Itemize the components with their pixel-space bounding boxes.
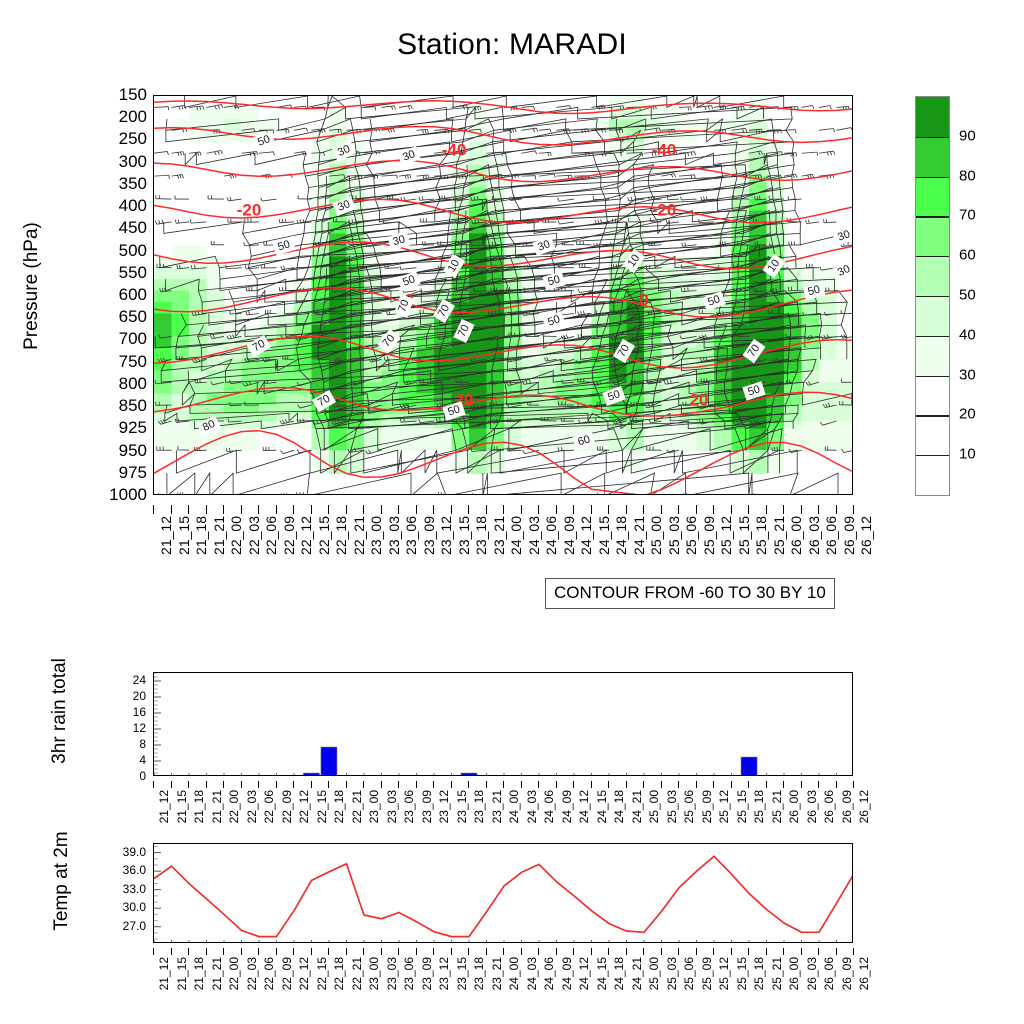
time-tick: [311, 948, 312, 955]
time-tick: [503, 948, 504, 955]
time-tick-label: 24_21: [631, 516, 647, 555]
time-tick-label: 23_00: [368, 516, 384, 555]
time-tick-label: 24_06: [542, 957, 556, 990]
time-tick-label: 22_00: [228, 516, 244, 555]
time-tick-label: 25_09: [700, 957, 714, 990]
time-tick: [293, 781, 294, 788]
time-tick-label: 24_21: [630, 957, 644, 990]
time-tick-label: 25_18: [752, 957, 766, 990]
time-tick-label: 26_12: [858, 516, 874, 555]
time-tick-label: 26_09: [841, 516, 857, 555]
time-tick-label: 25_03: [665, 790, 679, 823]
time-tick-label: 25_21: [770, 790, 784, 823]
time-tick-label: 26_06: [822, 957, 836, 990]
time-tick: [468, 781, 469, 788]
time-tick: [258, 948, 259, 955]
time-tick: [416, 781, 417, 788]
time-tick-label: 24_00: [508, 516, 524, 555]
time-tick: [766, 505, 767, 514]
time-tick-label: 22_18: [332, 790, 346, 823]
time-tick: [451, 781, 452, 788]
time-tick: [346, 781, 347, 788]
pressure-tick-label: 200: [119, 107, 147, 127]
time-tick-label: 22_18: [333, 516, 349, 555]
time-tick: [171, 948, 172, 955]
time-tick: [591, 948, 592, 955]
time-tick-label: 23_12: [438, 516, 454, 555]
cross-section-plot-area[interactable]: -40-40-20-200020205030303050303010101050…: [153, 95, 853, 495]
time-tick: [853, 948, 854, 955]
time-tick: [153, 505, 154, 514]
time-tick: [451, 505, 452, 514]
time-tick-label: 24_09: [560, 957, 574, 990]
time-tick-label: 24_15: [595, 957, 609, 990]
time-tick: [241, 948, 242, 955]
time-tick-label: 25_18: [753, 516, 769, 555]
time-tick: [521, 781, 522, 788]
time-tick: [433, 948, 434, 955]
time-tick-label: 22_12: [298, 516, 314, 555]
time-tick-label: 25_03: [665, 957, 679, 990]
time-tick-label: 22_09: [281, 516, 297, 555]
time-tick-label: 21_21: [211, 516, 227, 555]
time-tick: [328, 781, 329, 788]
time-tick: [223, 781, 224, 788]
time-tick: [486, 505, 487, 514]
time-tick: [731, 505, 732, 514]
time-tick: [486, 948, 487, 955]
time-tick: [608, 948, 609, 955]
colorbar-tick-labels: 908070605040302010: [915, 96, 1015, 494]
pressure-tick-label: 950: [119, 441, 147, 461]
time-tick-label: 23_21: [490, 790, 504, 823]
time-tick: [608, 781, 609, 788]
time-tick-label: 22_12: [297, 957, 311, 990]
time-tick-label: 24_18: [612, 957, 626, 990]
time-tick-label: 26_06: [823, 516, 839, 555]
time-tick-label: 25_21: [770, 957, 784, 990]
temp-plot-area[interactable]: [153, 843, 853, 943]
time-tick-label: 25_00: [648, 516, 664, 555]
svg-text:-20: -20: [237, 200, 262, 219]
pressure-tick-label: 1000: [109, 485, 147, 505]
time-tick: [223, 505, 224, 514]
time-tick: [696, 948, 697, 955]
pressure-axis-title: Pressure (hPa): [21, 136, 43, 436]
pressure-tick-label: 600: [119, 285, 147, 305]
rain-tick-label: 4: [139, 753, 146, 767]
time-tick-label: 23_21: [490, 957, 504, 990]
time-tick: [311, 781, 312, 788]
time-tick: [556, 781, 557, 788]
time-tick: [433, 505, 434, 514]
time-tick-label: 24_06: [542, 790, 556, 823]
time-tick-label: 25_06: [682, 957, 696, 990]
pressure-tick-label: 750: [119, 352, 147, 372]
time-tick: [661, 781, 662, 788]
time-tick: [521, 505, 522, 514]
time-tick: [748, 781, 749, 788]
time-tick-label: 24_06: [543, 516, 559, 555]
time-tick: [223, 948, 224, 955]
time-tick: [853, 505, 854, 514]
time-tick-label: 22_03: [246, 516, 262, 555]
time-tick: [381, 505, 382, 514]
time-tick: [188, 948, 189, 955]
time-tick-label: 21_15: [176, 516, 192, 555]
pressure-tick-label: 700: [119, 329, 147, 349]
colorbar-tick-label: 80: [959, 167, 976, 184]
time-tick-label: 23_18: [473, 516, 489, 555]
time-tick: [538, 781, 539, 788]
rain-tick-label: 12: [133, 721, 146, 735]
time-tick: [836, 505, 837, 514]
time-tick-label: 21_21: [210, 957, 224, 990]
time-tick-label: 23_03: [386, 516, 402, 555]
time-tick: [731, 781, 732, 788]
time-tick-label: 24_21: [630, 790, 644, 823]
time-tick: [503, 505, 504, 514]
time-tick: [713, 781, 714, 788]
cross-section-canvas: -40-40-20-200020205030303050303010101050…: [154, 96, 853, 495]
time-tick-label: 25_18: [752, 790, 766, 823]
time-tick: [258, 781, 259, 788]
time-tick-label: 23_06: [402, 957, 416, 990]
time-tick-label: 22_12: [297, 790, 311, 823]
time-tick-label: 24_18: [613, 516, 629, 555]
time-tick: [468, 505, 469, 514]
time-tick-label: 23_09: [420, 957, 434, 990]
time-tick-label: 23_12: [437, 957, 451, 990]
time-tick: [346, 505, 347, 514]
time-tick: [276, 505, 277, 514]
time-tick: [433, 781, 434, 788]
time-tick: [591, 781, 592, 788]
time-tick: [188, 781, 189, 788]
temp-tick-label: 27.0: [123, 919, 146, 933]
colorbar-tick-label: 60: [959, 247, 976, 264]
pressure-tick-labels: 1502002503003504004505005506006507007508…: [55, 95, 147, 495]
time-tick: [293, 505, 294, 514]
time-tick: [206, 948, 207, 955]
time-tick-label: 24_15: [595, 790, 609, 823]
time-tick-label: 26_03: [805, 957, 819, 990]
time-tick: [801, 505, 802, 514]
colorbar-tick-label: 90: [959, 127, 976, 144]
time-tick-label: 22_03: [245, 790, 259, 823]
time-tick-label: 24_00: [507, 957, 521, 990]
temp-tick-label: 39.0: [123, 845, 146, 859]
time-tick-label: 26_00: [787, 957, 801, 990]
time-tick-label: 23_15: [455, 790, 469, 823]
pressure-tick-label: 975: [119, 463, 147, 483]
time-tick-label: 24_03: [526, 516, 542, 555]
time-tick-label: 22_15: [315, 957, 329, 990]
time-tick: [783, 505, 784, 514]
time-tick-label: 26_12: [857, 790, 871, 823]
time-tick-label: 22_03: [245, 957, 259, 990]
time-tick-label: 23_03: [385, 957, 399, 990]
contour-note: CONTOUR FROM -60 TO 30 BY 10: [545, 578, 835, 609]
time-tick-label: 22_06: [262, 957, 276, 990]
colorbar-tick-label: 30: [959, 366, 976, 383]
time-tick: [591, 505, 592, 514]
time-tick: [643, 948, 644, 955]
time-tick: [538, 505, 539, 514]
time-tick: [311, 505, 312, 514]
time-tick: [188, 505, 189, 514]
temp-tick-labels: 27.030.033.036.039.0: [80, 843, 146, 943]
rain-tick-label: 8: [139, 737, 146, 751]
time-tick: [766, 948, 767, 955]
colorbar-tick-label: 50: [959, 287, 976, 304]
time-tick-label: 25_09: [701, 516, 717, 555]
time-tick: [853, 781, 854, 788]
time-tick: [783, 781, 784, 788]
time-tick: [696, 781, 697, 788]
time-tick-label: 23_18: [472, 790, 486, 823]
time-tick: [206, 505, 207, 514]
time-tick: [171, 505, 172, 514]
time-tick-label: 25_12: [717, 790, 731, 823]
svg-text:20: 20: [690, 390, 709, 409]
page-title: Station: MARADI: [0, 28, 1024, 62]
time-tick-label: 24_18: [612, 790, 626, 823]
time-tick-label: 26_03: [806, 516, 822, 555]
rain-panel: [153, 672, 853, 776]
rain-tick-label: 16: [133, 705, 146, 719]
pressure-tick-label: 800: [119, 374, 147, 394]
time-tick: [556, 505, 557, 514]
time-tick: [416, 948, 417, 955]
time-tick-label: 26_00: [787, 790, 801, 823]
colorbar-tick-label: 70: [959, 207, 976, 224]
time-tick-label: 24_03: [525, 957, 539, 990]
time-tick: [276, 781, 277, 788]
time-tick-label: 22_09: [280, 957, 294, 990]
time-tick: [713, 505, 714, 514]
time-tick: [556, 948, 557, 955]
rain-tick-label: 0: [139, 769, 146, 783]
time-tick: [486, 781, 487, 788]
time-tick-label: 23_15: [456, 516, 472, 555]
pressure-tick-label: 450: [119, 218, 147, 238]
time-tick-label: 25_06: [683, 516, 699, 555]
time-tick: [678, 781, 679, 788]
time-tick: [661, 948, 662, 955]
rain-plot-area[interactable]: [153, 672, 853, 776]
time-tick-label: 21_18: [192, 957, 206, 990]
time-tick: [626, 781, 627, 788]
pressure-tick-label: 400: [119, 196, 147, 216]
pressure-tick-label: 250: [119, 129, 147, 149]
time-tick-label: 25_09: [700, 790, 714, 823]
time-tick-label: 26_12: [857, 957, 871, 990]
time-tick-label: 21_15: [175, 790, 189, 823]
time-tick: [643, 781, 644, 788]
time-tick-label: 23_21: [491, 516, 507, 555]
time-tick: [836, 948, 837, 955]
time-tick-label: 22_09: [280, 790, 294, 823]
time-tick: [573, 505, 574, 514]
pressure-tick-label: 650: [119, 307, 147, 327]
time-tick-label: 26_09: [840, 790, 854, 823]
time-tick: [538, 948, 539, 955]
temp-tick-label: 33.0: [123, 882, 146, 896]
time-tick: [363, 505, 364, 514]
temp-tick-label: 30.0: [123, 900, 146, 914]
time-tick: [206, 781, 207, 788]
time-tick: [626, 505, 627, 514]
time-tick: [153, 781, 154, 788]
time-tick: [801, 781, 802, 788]
time-tick: [153, 948, 154, 955]
time-tick-label: 25_00: [647, 790, 661, 823]
time-tick: [363, 781, 364, 788]
time-tick-label: 25_15: [735, 957, 749, 990]
temp-time-labels: 21_1221_1521_1821_2122_0022_0322_0622_09…: [153, 948, 853, 1010]
time-tick: [241, 781, 242, 788]
time-tick-label: 22_06: [263, 516, 279, 555]
temp-axis-title: Temp at 2m: [51, 761, 73, 1001]
time-tick: [573, 781, 574, 788]
time-tick-label: 25_12: [717, 957, 731, 990]
pressure-tick-label: 350: [119, 174, 147, 194]
time-tick: [801, 948, 802, 955]
time-tick-label: 26_09: [840, 957, 854, 990]
rain-tick-label: 20: [133, 689, 146, 703]
time-tick-label: 22_15: [316, 516, 332, 555]
time-tick: [748, 505, 749, 514]
time-tick-label: 21_12: [157, 957, 171, 990]
time-tick-label: 26_03: [805, 790, 819, 823]
time-tick-label: 23_09: [420, 790, 434, 823]
rain-tick-labels: 04812162024: [88, 672, 146, 776]
time-tick-label: 22_18: [332, 957, 346, 990]
svg-text:-40: -40: [442, 140, 467, 159]
time-tick: [503, 781, 504, 788]
time-tick-label: 23_00: [367, 790, 381, 823]
cross-section-panel: -40-40-20-200020205030303050303010101050…: [153, 95, 853, 495]
time-tick-label: 25_03: [666, 516, 682, 555]
time-tick-label: 26_06: [822, 790, 836, 823]
time-tick-label: 23_18: [472, 957, 486, 990]
time-tick-label: 22_06: [262, 790, 276, 823]
time-tick-label: 24_12: [577, 790, 591, 823]
time-tick: [416, 505, 417, 514]
pressure-tick-label: 850: [119, 396, 147, 416]
time-tick: [608, 505, 609, 514]
time-tick-label: 22_00: [227, 790, 241, 823]
time-tick: [818, 948, 819, 955]
time-tick-label: 23_03: [385, 790, 399, 823]
time-tick-label: 21_18: [193, 516, 209, 555]
time-tick: [363, 948, 364, 955]
time-tick-label: 24_03: [525, 790, 539, 823]
time-tick-label: 23_12: [437, 790, 451, 823]
time-tick-label: 21_15: [175, 957, 189, 990]
time-tick-label: 24_09: [561, 516, 577, 555]
time-tick: [678, 505, 679, 514]
time-tick-label: 21_18: [192, 790, 206, 823]
time-tick-label: 24_15: [596, 516, 612, 555]
pressure-tick-label: 500: [119, 241, 147, 261]
time-tick-label: 24_12: [578, 516, 594, 555]
time-tick-label: 22_21: [350, 957, 364, 990]
time-tick-label: 23_15: [455, 957, 469, 990]
time-tick-label: 25_00: [647, 957, 661, 990]
time-tick-label: 25_06: [682, 790, 696, 823]
cross-section-time-labels: 21_1221_1521_1821_2122_0022_0322_0622_09…: [153, 505, 853, 575]
time-tick: [748, 948, 749, 955]
time-tick: [381, 948, 382, 955]
colorbar-tick-label: 10: [959, 446, 976, 463]
time-tick-label: 25_21: [771, 516, 787, 555]
time-tick: [293, 948, 294, 955]
time-tick-label: 25_12: [718, 516, 734, 555]
time-tick: [328, 948, 329, 955]
time-tick: [818, 781, 819, 788]
time-tick: [398, 948, 399, 955]
pressure-tick-label: 300: [119, 152, 147, 172]
time-tick-label: 22_15: [315, 790, 329, 823]
rain-canvas: [154, 673, 853, 776]
rain-tick-label: 24: [133, 673, 146, 687]
time-tick: [766, 781, 767, 788]
time-tick: [783, 948, 784, 955]
time-tick-label: 24_09: [560, 790, 574, 823]
time-tick: [836, 781, 837, 788]
colorbar-tick-label: 20: [959, 406, 976, 423]
time-tick-label: 24_12: [577, 957, 591, 990]
time-tick: [241, 505, 242, 514]
time-tick: [818, 505, 819, 514]
time-tick-label: 21_21: [210, 790, 224, 823]
temp-panel: [153, 843, 853, 943]
svg-text:0: 0: [639, 290, 648, 309]
svg-text:-40: -40: [652, 140, 677, 159]
time-tick-label: 21_12: [157, 790, 171, 823]
time-tick-label: 23_09: [421, 516, 437, 555]
time-tick-label: 24_00: [507, 790, 521, 823]
time-tick-label: 22_21: [351, 516, 367, 555]
time-tick: [451, 948, 452, 955]
time-tick-label: 23_06: [403, 516, 419, 555]
colorbar-tick-label: 40: [959, 326, 976, 343]
time-tick: [258, 505, 259, 514]
pressure-tick-label: 150: [119, 85, 147, 105]
time-tick-label: 21_12: [158, 516, 174, 555]
rain-time-labels: 21_1221_1521_1821_2122_0022_0322_0622_09…: [153, 781, 853, 843]
pressure-tick-label: 925: [119, 418, 147, 438]
time-tick: [661, 505, 662, 514]
time-tick: [468, 948, 469, 955]
time-tick-label: 23_00: [367, 957, 381, 990]
temp-canvas: [154, 844, 853, 943]
time-tick: [521, 948, 522, 955]
time-tick: [696, 505, 697, 514]
time-tick: [678, 948, 679, 955]
time-tick: [713, 948, 714, 955]
pressure-tick-label: 550: [119, 263, 147, 283]
time-tick: [398, 781, 399, 788]
time-tick: [573, 948, 574, 955]
temp-tick-label: 36.0: [123, 863, 146, 877]
time-tick: [643, 505, 644, 514]
time-tick: [626, 948, 627, 955]
time-tick-label: 26_00: [788, 516, 804, 555]
time-tick-label: 25_15: [736, 516, 752, 555]
